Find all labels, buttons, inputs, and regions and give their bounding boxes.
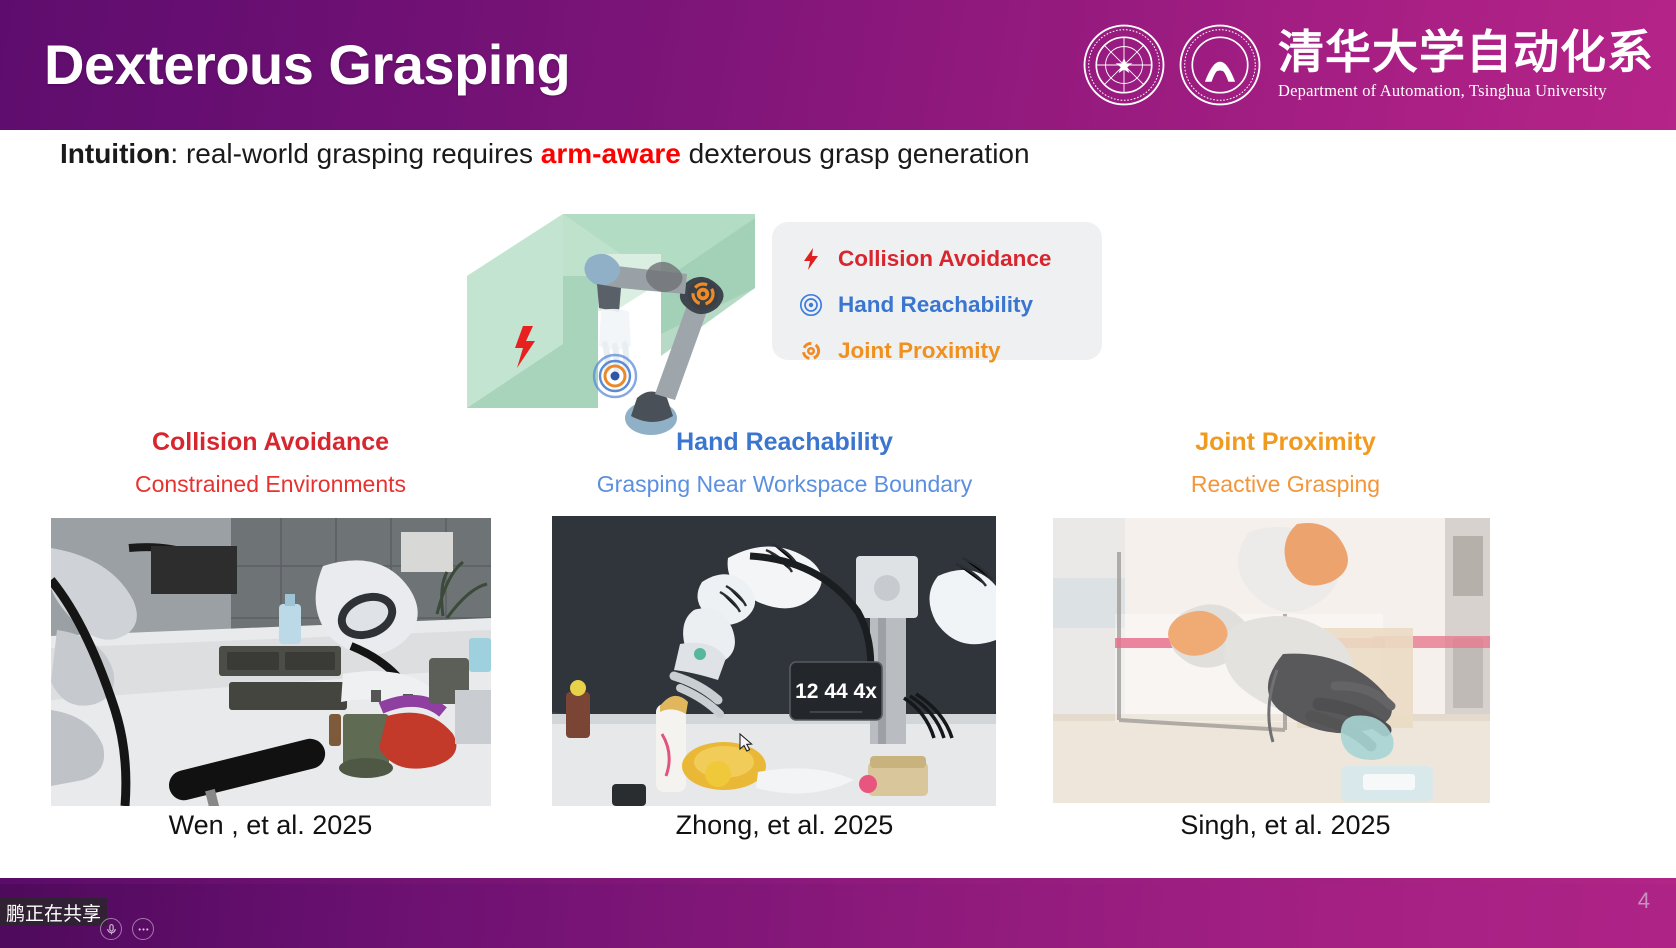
footer-bar xyxy=(0,884,1676,948)
screen-share-label: 鹏正在共享 xyxy=(6,899,101,926)
screen-share-notice: 鹏正在共享 xyxy=(0,898,107,926)
column-subtitle-constrained-environments: Constrained Environments xyxy=(38,471,503,498)
legend-item-joint-proximity: Joint Proximity xyxy=(798,328,1084,374)
video-thumbnail-tabletop-dual-arm[interactable]: 12 44 4x xyxy=(552,516,996,806)
page-number: 4 xyxy=(1638,888,1650,914)
column-subtitle-reactive-grasping: Reactive Grasping xyxy=(1053,471,1518,498)
legend-card: Collision Avoidance Hand Reachability xyxy=(772,222,1102,360)
tsinghua-university-seal-icon xyxy=(1082,23,1166,107)
intuition-highlight: arm-aware xyxy=(541,138,681,169)
target-rings-icon xyxy=(594,355,636,397)
caption-wen-2025: Wen , et al. 2025 xyxy=(38,810,503,841)
intuition-middle: : real-world grasping requires xyxy=(170,138,540,169)
slide-root: Dexterous Grasping xyxy=(0,0,1676,948)
example-column-hand-reachability: Hand Reachability Grasping Near Workspac… xyxy=(552,428,1017,498)
university-logo: 清华大学自动化系 Department of Automation, Tsing… xyxy=(1082,23,1654,107)
column-title-joint-proximity: Joint Proximity xyxy=(1053,428,1518,457)
legend-label-collision-avoidance: Collision Avoidance xyxy=(838,246,1051,272)
more-options-icon[interactable] xyxy=(132,918,154,940)
caption-singh-2025: Singh, et al. 2025 xyxy=(1053,810,1518,841)
column-title-collision-avoidance: Collision Avoidance xyxy=(38,428,503,457)
meeting-control-tray xyxy=(100,918,154,940)
logo-english-name: Department of Automation, Tsinghua Unive… xyxy=(1278,81,1607,101)
examples-row: Collision Avoidance Constrained Environm… xyxy=(0,428,1676,878)
robot-arm-illustration xyxy=(455,196,785,441)
legend-item-hand-reachability: Hand Reachability xyxy=(798,282,1084,328)
column-title-hand-reachability: Hand Reachability xyxy=(552,428,1017,457)
legend-item-collision-avoidance: Collision Avoidance xyxy=(798,236,1084,282)
page-title: Dexterous Grasping xyxy=(44,37,570,93)
intuition-tail: dexterous grasp generation xyxy=(681,138,1030,169)
intuition-lead: Intuition xyxy=(60,138,170,169)
example-column-joint-proximity: Joint Proximity Reactive Grasping xyxy=(1053,428,1518,498)
intuition-line: Intuition: real-world grasping requires … xyxy=(60,138,1030,170)
robot-arm-3d xyxy=(584,254,723,435)
gear-icon xyxy=(798,338,824,364)
video-thumbnail-reactive-grasp-arm[interactable] xyxy=(1053,518,1490,803)
example-column-collision-avoidance: Collision Avoidance Constrained Environm… xyxy=(38,428,503,498)
legend-label-hand-reachability: Hand Reachability xyxy=(838,292,1033,318)
slide-header: Dexterous Grasping xyxy=(0,0,1676,130)
target-rings-icon xyxy=(798,292,824,318)
video-thumbnail-kitchen-sink-dual-arm[interactable] xyxy=(51,518,491,806)
logo-chinese-name: 清华大学自动化系 xyxy=(1278,29,1654,75)
video-overlay-timer: 12 44 4x xyxy=(795,680,877,703)
department-of-automation-seal-icon xyxy=(1178,23,1262,107)
audio-mute-icon[interactable] xyxy=(100,918,122,940)
column-subtitle-grasping-near-workspace-boundary: Grasping Near Workspace Boundary xyxy=(552,471,1017,498)
lightning-bolt-icon xyxy=(798,246,824,272)
legend-label-joint-proximity: Joint Proximity xyxy=(838,338,1001,364)
caption-zhong-2025: Zhong, et al. 2025 xyxy=(552,810,1017,841)
